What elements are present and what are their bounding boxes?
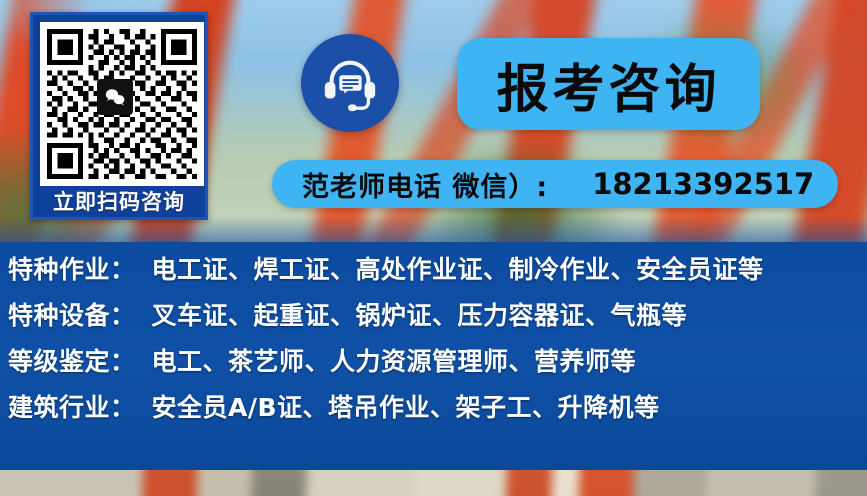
title-badge: 报考咨询 — [457, 38, 760, 130]
contact-phone-pill[interactable]: 范老师电话 微信）: 18213392517 — [272, 160, 838, 208]
info-row-label: 等级鉴定： — [8, 342, 136, 378]
info-row-items: 电工证、焊工证、高处作业证、制冷作业、安全员证等 — [152, 250, 764, 286]
qr-code-image[interactable] — [40, 22, 204, 186]
info-row-special-equipment: 特种设备： 叉车证、起重证、锅炉证、压力容器证、气瓶等 — [0, 296, 867, 342]
info-row-grade-appraisal: 等级鉴定： 电工、茶艺师、人力资源管理师、营养师等 — [0, 342, 867, 388]
bottom-scaffolding-photo — [0, 470, 867, 496]
promo-poster: 立即扫码咨询 报考咨询 范老师电话 微信）: 18213392517 特种作业：… — [0, 0, 867, 496]
info-row-label: 特种作业： — [8, 250, 136, 286]
qr-card-label: 立即扫码咨询 — [40, 186, 198, 220]
info-row-construction-industry: 建筑行业： 安全员A/B证、塔吊作业、架子工、升降机等 — [0, 388, 867, 434]
qr-card[interactable]: 立即扫码咨询 — [30, 12, 208, 220]
info-row-items: 电工、茶艺师、人力资源管理师、营养师等 — [152, 342, 637, 378]
phone-label: 范老师电话 微信）: — [302, 165, 548, 204]
info-row-items: 叉车证、起重证、锅炉证、压力容器证、气瓶等 — [152, 296, 688, 332]
info-row-label: 特种设备： — [8, 296, 136, 332]
certificate-categories-panel: 特种作业： 电工证、焊工证、高处作业证、制冷作业、安全员证等 特种设备： 叉车证… — [0, 242, 867, 470]
info-row-label: 建筑行业： — [8, 388, 136, 424]
title-badge-text: 报考咨询 — [496, 47, 720, 122]
info-row-items: 安全员A/B证、塔吊作业、架子工、升降机等 — [152, 388, 660, 424]
phone-number: 18213392517 — [592, 167, 814, 201]
bottom-photo-strip — [0, 470, 867, 496]
headset-support-icon — [301, 34, 399, 132]
info-row-special-operations: 特种作业： 电工证、焊工证、高处作业证、制冷作业、安全员证等 — [0, 250, 867, 296]
wechat-icon — [97, 79, 133, 115]
